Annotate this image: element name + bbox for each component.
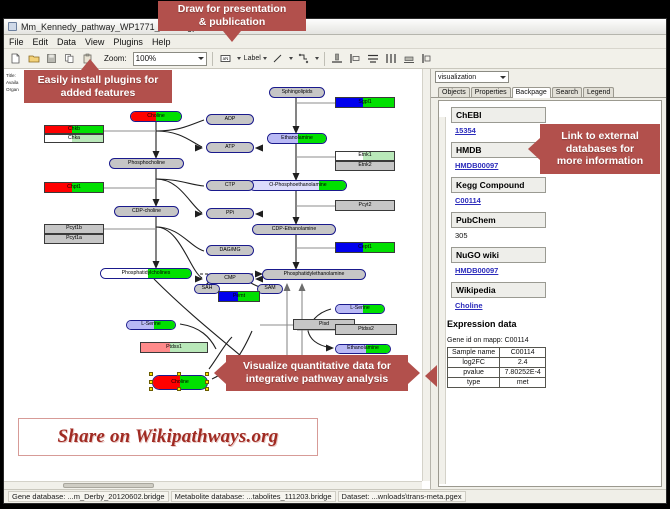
metabolite-node-cdp-choline[interactable]: CDP-choline [114,206,179,217]
expression-value: 2.4 [500,358,546,368]
node-label: Pisd [319,322,329,327]
align-left-icon[interactable] [348,51,363,66]
node-label: Ethanolamine [347,346,379,351]
chevron-down-icon [500,76,506,79]
node-label: Phosphocholine [128,161,165,166]
canvas-vscrollbar[interactable] [422,69,430,481]
svg-text:aN: aN [222,56,228,61]
node-label: Choline [147,114,165,119]
chevron-down-icon[interactable] [289,57,293,60]
pathway-info-legend: Title: Availa Organ [6,72,19,93]
hscroll-thumb[interactable] [63,483,155,488]
gene-node-pcyt2[interactable]: Pcyt2 [335,200,395,211]
share-banner-text: Share on Wikipathways.org [58,426,279,448]
node-label: Chpt1 [67,185,81,190]
callout-draw: Draw for presentation& publication [158,1,306,31]
db-value-nugo-wiki[interactable]: HMDB00097 [455,266,498,275]
save-icon[interactable] [44,51,59,66]
node-label: O-Phosphoethanolamine [269,183,326,188]
tab-objects[interactable]: Objects [438,87,470,97]
app-icon [8,22,17,31]
selection-handle[interactable] [205,380,209,384]
status-dataset: Dataset: ...wnloads\trans-meta.pgex [338,491,466,502]
metabolite-node-dag-mg[interactable]: DAG/MG [206,245,254,256]
status-bar: Gene database: ...m_Derby_20120602.bridg… [4,489,666,503]
metabolite-node-ethanolamine-top[interactable]: Ethanolamine [267,133,327,144]
toolbar-separator [324,52,325,66]
callout-link-arrow-icon [528,138,540,160]
callout-visualize-text: Visualize quantitative data forintegrati… [243,360,391,386]
gene-node-pcyt1b[interactable]: Pcyt1b [44,224,104,234]
visualization-row: visualization [431,69,666,85]
metabolite-node-phosphatidylethanolamine[interactable]: Phosphatidylethanolamine [262,269,366,280]
callout-link-arrow-lower-icon [425,365,437,387]
callout-plugins: Easily install plugins foradded features [24,70,172,103]
node-label: Pcyt1b [66,226,82,231]
callout-draw-arrow-icon [223,31,241,42]
db-value-pubchem: 305 [455,231,468,240]
size-equal-icon[interactable] [402,51,417,66]
node-label: Pemt [233,294,245,299]
expression-row: log2FC2.4 [448,358,546,368]
metabolite-node-ethanolamine-bottom[interactable]: Ethanolamine [335,344,391,354]
node-label: L-Serine [141,322,161,327]
legend-title: Title: [6,72,19,79]
share-banner: Share on Wikipathways.org [18,418,318,456]
selection-handle[interactable] [205,387,209,391]
metabolite-node-phosphatidylcholines[interactable]: Phosphatidylcholines [100,268,192,279]
node-label: Sphingolipids [282,90,313,95]
menu-help[interactable]: Help [152,37,171,47]
open-folder-icon[interactable] [26,51,41,66]
callout-visualize-arrow-right-icon [408,362,420,384]
node-label: Chka [68,136,80,141]
metabolite-node-cdp-ethanolamine[interactable]: CDP-Ethanolamine [252,224,336,235]
expression-value: C00114 [500,348,546,358]
selection-handle[interactable] [205,372,209,376]
metabolite-node-adp[interactable]: ADP [206,114,254,125]
node-label: Etnk2 [358,163,371,168]
node-label: CDP-choline [132,209,161,214]
db-header-wikipedia: Wikipedia [451,282,546,298]
expression-value: met [500,378,546,388]
menu-plugins[interactable]: Plugins [113,37,143,47]
expression-key: pvalue [448,368,500,378]
new-file-icon[interactable] [8,51,23,66]
screenshot-root: Mm_Kennedy_pathway_WP1771_45176.gpml Fil… [0,0,670,509]
gene-node-cept1[interactable]: Cept1 [335,242,395,253]
node-label: Chkb [68,127,80,132]
node-label: SAH [202,286,213,291]
expression-key: type [448,378,500,388]
status-metabolite-database: Metabolite database: ...tabolites_111203… [171,491,336,502]
menubar: File Edit Data View Plugins Help [4,35,666,49]
callout-visualize-arrow-icon [214,362,226,384]
visualization-select[interactable]: visualization [435,71,509,83]
metabolite-node-sphingolipids[interactable]: Sphingolipids [269,87,325,98]
node-label: L-Serine [350,306,370,311]
expression-table: Sample nameC00114log2FC2.4pvalue7.80252E… [447,347,546,388]
label-tool-label: Label [244,55,261,62]
chevron-down-icon [198,57,204,60]
callout-plugins-text: Easily install plugins foradded features [38,74,159,100]
db-value-hmdb[interactable]: HMDB00097 [455,161,498,170]
node-label: Ptdss1 [166,345,182,350]
legend-availability: Availa [6,79,19,86]
tab-search[interactable]: Search [552,87,582,97]
distribute-vertical-icon[interactable] [366,51,381,66]
expression-value: 7.80252E-4 [500,368,546,378]
gene-node-pemt[interactable]: Pemt [218,291,260,302]
node-label: Pcyt2 [359,203,372,208]
node-label: Choline [171,380,189,385]
menu-data[interactable]: Data [57,37,76,47]
line-icon[interactable] [270,51,285,66]
distribute-horizontal-icon[interactable] [384,51,399,66]
node-label: Phosphatidylethanolamine [284,272,345,277]
db-header-pubchem: PubChem [451,212,546,228]
db-value-chebi[interactable]: 15354 [455,126,476,135]
tab-properties[interactable]: Properties [471,87,511,97]
metabolite-node-ctp[interactable]: CTP [206,180,254,191]
node-label: PPi [226,211,234,216]
gene-node-pcyt1a[interactable]: Pcyt1a [44,234,104,244]
toolbar-separator [212,52,213,66]
gene-node-ptdss2[interactable]: Ptdss2 [335,324,397,335]
metabolite-node-l-serine-right[interactable]: L-Serine [335,304,385,314]
toolbar: Zoom: 100% aN Label [4,49,666,69]
expression-data-heading: Expression data [447,319,653,329]
node-label: CMP [224,276,236,281]
selection-handle[interactable] [177,387,181,391]
connector-icon[interactable] [296,51,311,66]
selection-handle[interactable] [149,387,153,391]
selection-handle[interactable] [177,372,181,376]
gene-node-etnk2[interactable]: Etnk2 [335,161,395,171]
align-bottom-icon[interactable] [330,51,345,66]
backpage-vscrollbar[interactable] [439,117,446,484]
zoom-label: Zoom: [104,54,127,63]
callout-draw-text: Draw for presentation& publication [178,3,287,29]
db-header-nugo-wiki: NuGO wiki [451,247,546,263]
menu-view[interactable]: View [85,37,104,47]
gene-node-etnk1[interactable]: Etnk1 [335,151,395,161]
metabolite-node-sam[interactable]: SAM [257,284,283,294]
stack-icon[interactable] [420,51,435,66]
callout-link-text: Link to externaldatabases formore inform… [557,130,643,168]
node-label: ADP [225,117,236,122]
copy-icon[interactable] [62,51,77,66]
selection-handle[interactable] [149,380,153,384]
tab-backpage[interactable]: Backpage [512,87,551,98]
callout-plugins-arrow-icon [81,59,99,70]
metabolite-node-atp[interactable]: ATP [206,142,254,153]
gene-node-chpt1[interactable]: Chpt1 [44,182,104,193]
gene-id-line: Gene id on mapp: C00114 [447,337,653,344]
db-header-chebi: ChEBI [451,107,546,123]
metabolite-node-l-serine-left[interactable]: L-Serine [126,320,176,330]
chevron-down-icon[interactable] [237,57,241,60]
node-label: Sgpl1 [358,100,371,105]
legend-organism: Organ [6,86,19,93]
expression-row: Sample nameC00114 [448,348,546,358]
callout-link: Link to externaldatabases formore inform… [540,124,660,174]
menu-file[interactable]: File [9,37,24,47]
node-label: Etnk1 [358,153,371,158]
node-label: Ptdss2 [358,327,374,332]
node-label: CTP [225,183,235,188]
node-label: Pcyt1a [66,236,82,241]
callout-visualize: Visualize quantitative data forintegrati… [226,355,408,391]
visualization-value: visualization [438,74,476,81]
gene-node-ptdss1[interactable]: Ptdss1 [140,342,208,353]
status-gene-database: Gene database: ...m_Derby_20120602.bridg… [8,491,169,502]
selection-handle[interactable] [149,372,153,376]
db-header-kegg-compound: Kegg Compound [451,177,546,193]
window-titlebar: Mm_Kennedy_pathway_WP1771_45176.gpml [4,19,666,35]
metabolite-node-ppi[interactable]: PPi [206,208,254,219]
canvas-hscrollbar[interactable] [4,481,422,489]
metabolite-node-phosphocholine[interactable]: Phosphocholine [109,158,184,169]
db-value-wikipedia[interactable]: Choline [455,301,483,310]
node-label: SAM [264,286,275,291]
data-node-icon[interactable]: aN [218,51,233,66]
node-label: CDP-Ethanolamine [272,227,316,232]
gene-node-chka[interactable]: Chka [44,134,104,143]
node-label: Cept1 [358,245,372,250]
tab-legend[interactable]: Legend [583,87,614,97]
metabolite-node-choline-top[interactable]: Choline [130,111,182,122]
label-tool[interactable]: Label [244,55,267,62]
node-label: Phosphatidylcholines [122,271,171,276]
menu-edit[interactable]: Edit [33,37,49,47]
metabolite-node-o-phosphoethanolamine[interactable]: O-Phosphoethanolamine [249,180,347,191]
db-value-kegg-compound[interactable]: C00114 [455,196,481,205]
metabolite-node-sah[interactable]: SAH [194,284,220,294]
chevron-down-icon [263,57,267,60]
metabolite-node-cmp[interactable]: CMP [206,273,254,284]
expression-row: typemet [448,378,546,388]
gene-node-sgpl1[interactable]: Sgpl1 [335,97,395,108]
node-label: Ethanolamine [281,136,313,141]
expression-key: log2FC [448,358,500,368]
zoom-select[interactable]: 100% [133,52,207,66]
zoom-value: 100% [136,54,156,63]
expression-key: Sample name [448,348,500,358]
node-label: DAG/MG [219,248,240,253]
node-label: ATP [225,145,235,150]
gene-node-chkb[interactable]: Chkb [44,125,104,134]
chevron-down-icon[interactable] [315,57,319,60]
expression-row: pvalue7.80252E-4 [448,368,546,378]
side-panel-tabs: Objects Properties Backpage Search Legen… [431,85,666,98]
